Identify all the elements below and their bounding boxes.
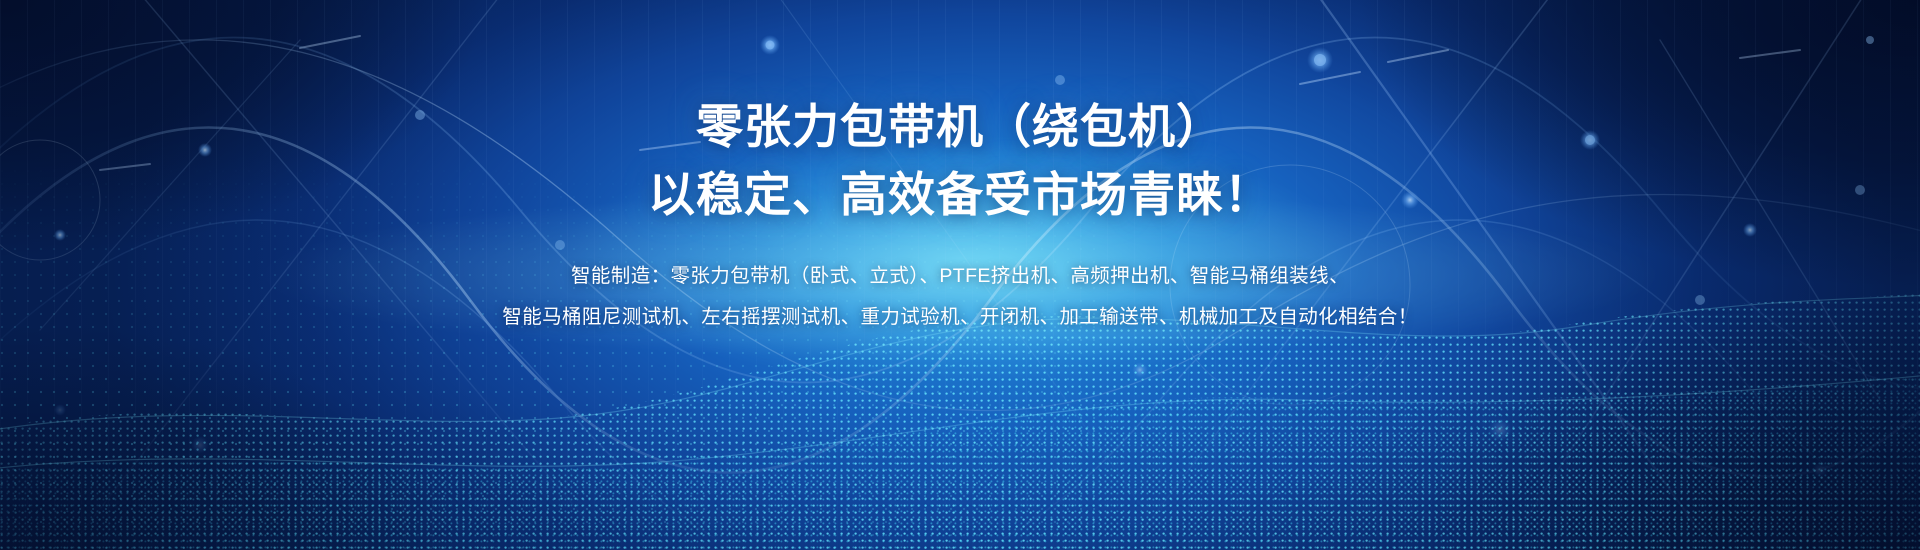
subtitle-line-2: 智能马桶阻尼测试机、左右摇摆测试机、重力试验机、开闭机、加工输送带、机械加工及自… bbox=[502, 297, 1417, 338]
banner-headline: 零张力包带机（绕包机） 以稳定、高效备受市场青睐！ bbox=[648, 96, 1272, 226]
subtitle-line-1: 智能制造：零张力包带机（卧式、立式）、PTFE挤出机、高频押出机、智能马桶组装线… bbox=[502, 256, 1417, 297]
headline-line-2: 以稳定、高效备受市场青睐！ bbox=[648, 164, 1272, 226]
banner-subtitle: 智能制造：零张力包带机（卧式、立式）、PTFE挤出机、高频押出机、智能马桶组装线… bbox=[502, 256, 1417, 337]
hero-banner: 零张力包带机（绕包机） 以稳定、高效备受市场青睐！ 智能制造：零张力包带机（卧式… bbox=[0, 0, 1920, 550]
banner-content: 零张力包带机（绕包机） 以稳定、高效备受市场青睐！ 智能制造：零张力包带机（卧式… bbox=[0, 0, 1920, 550]
headline-line-1: 零张力包带机（绕包机） bbox=[648, 96, 1272, 158]
